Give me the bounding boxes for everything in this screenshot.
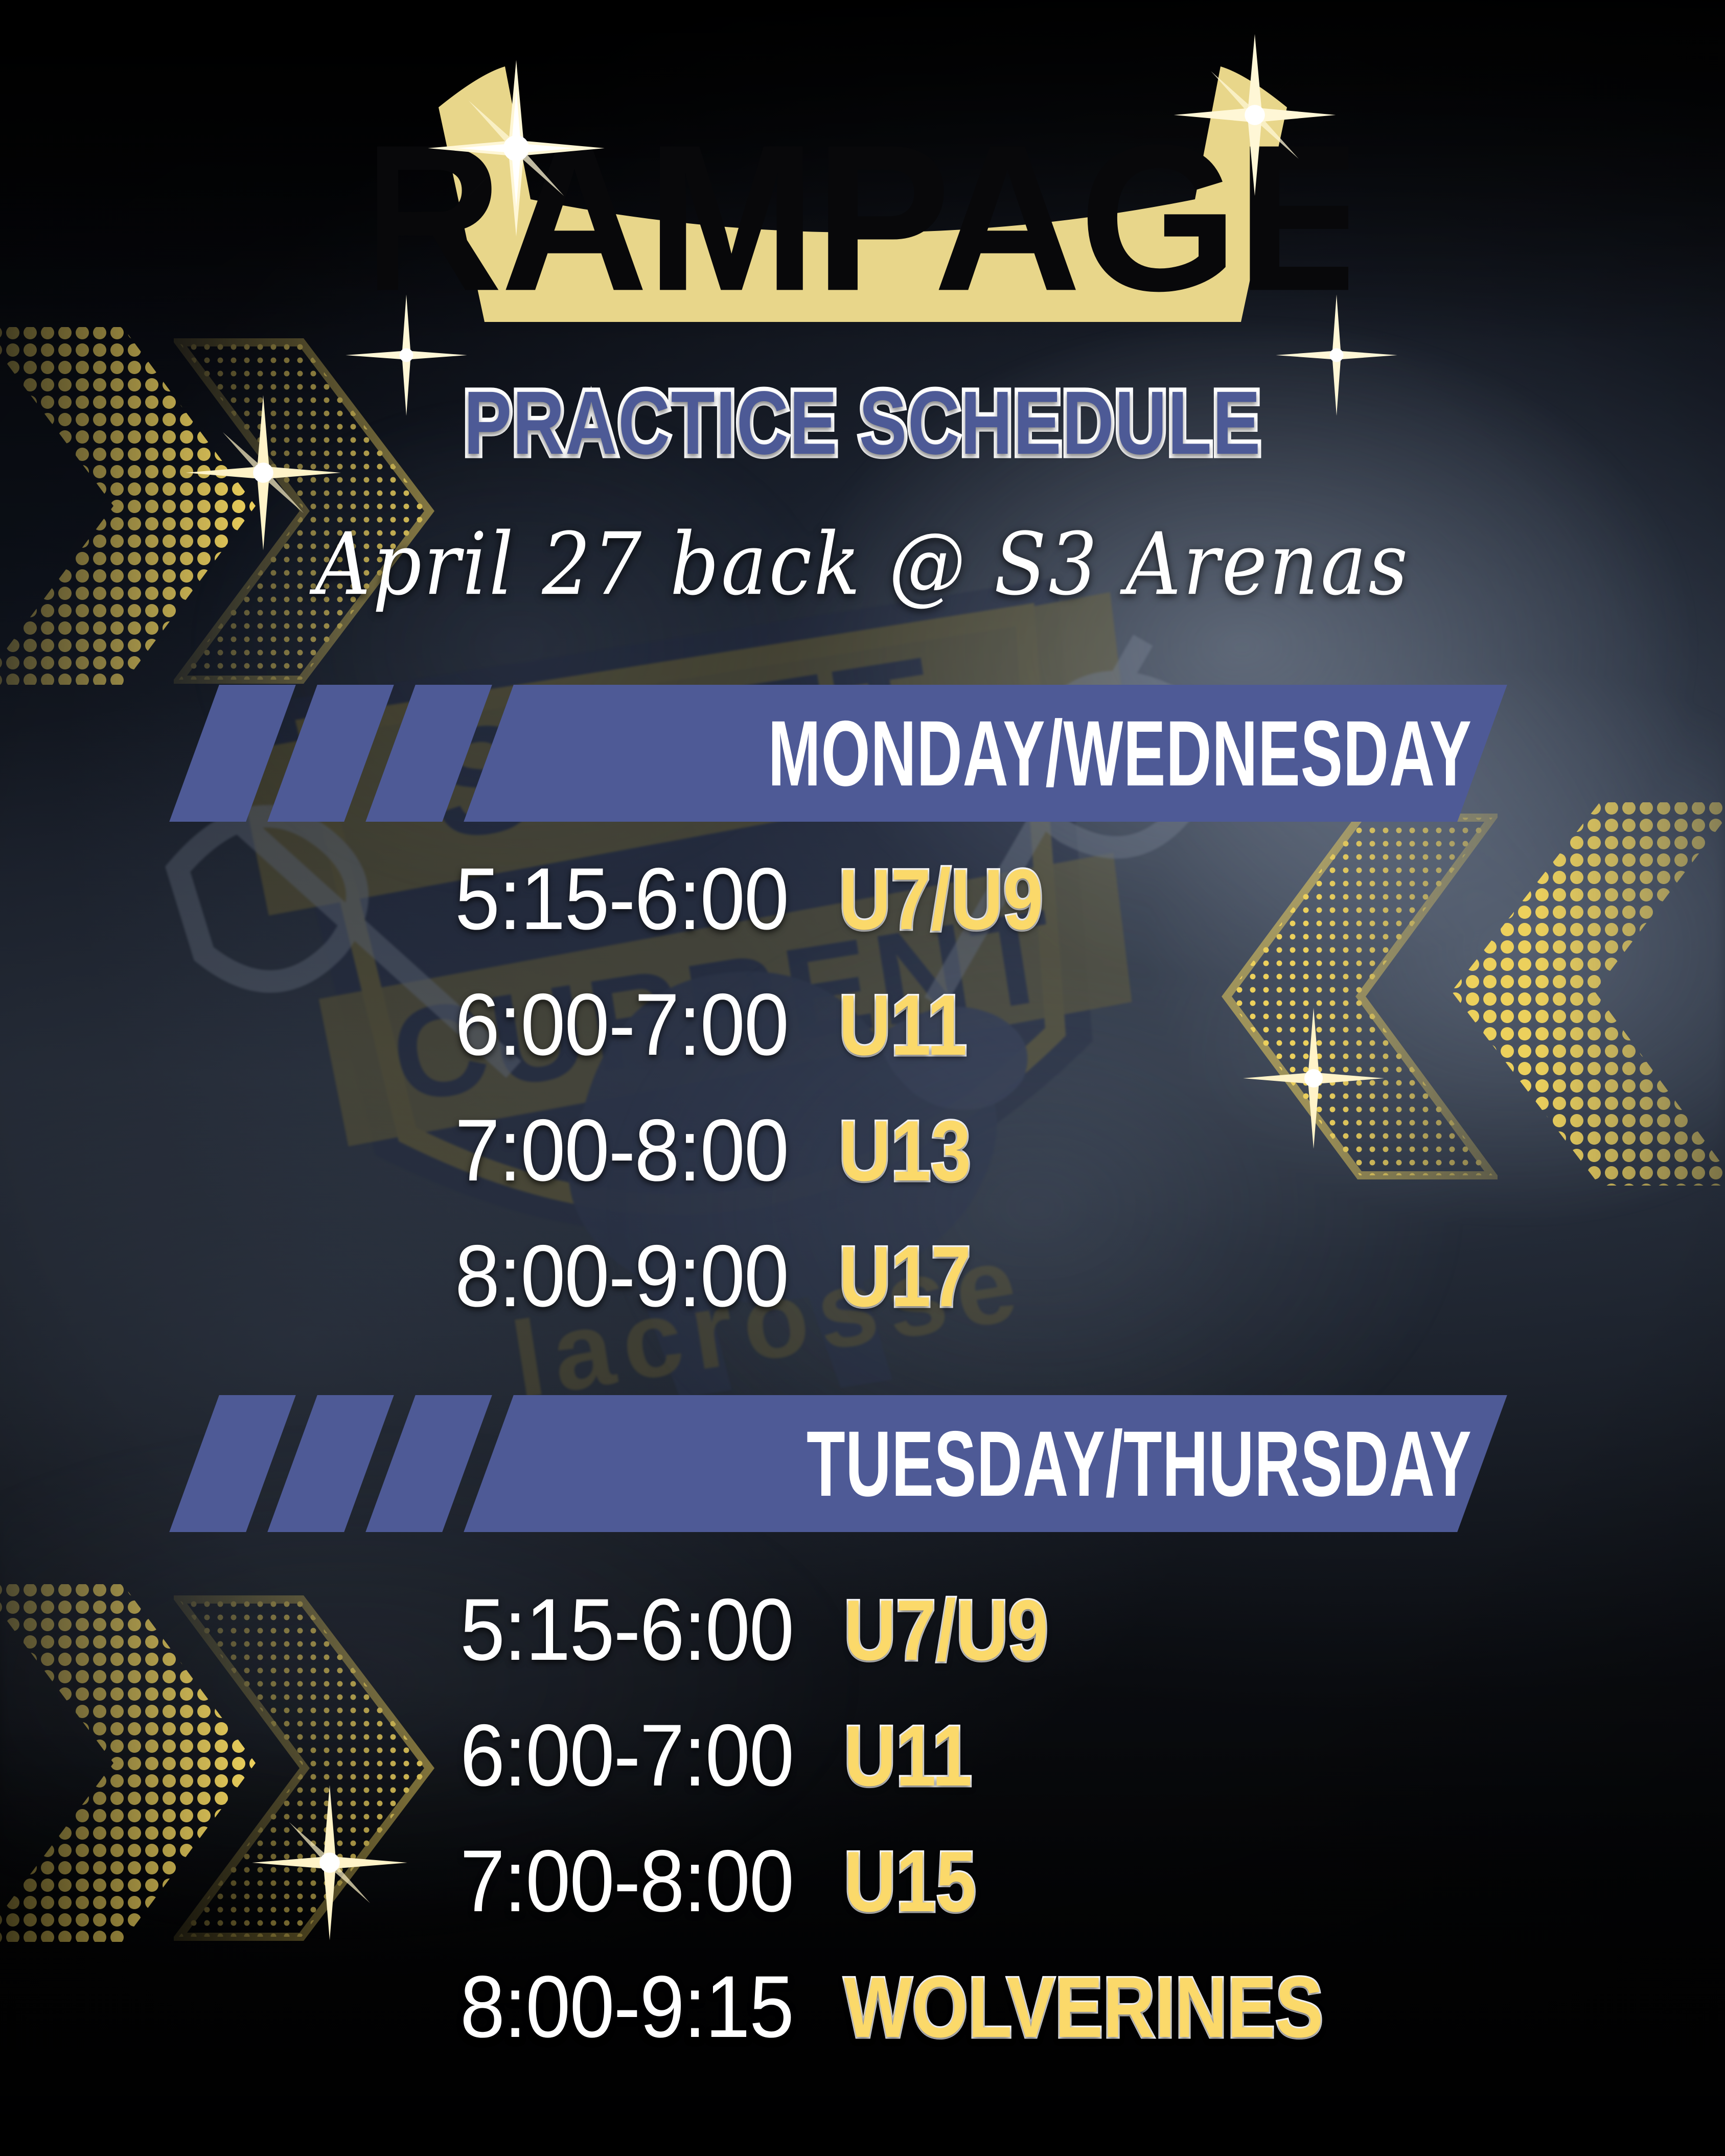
page-subtitle: PRACTICE SCHEDULE (173, 378, 1553, 468)
schedule-list-monday-wednesday: 5:15-6:00 U7/U9 6:00-7:00 U11 7:00-8:00 … (455, 848, 1082, 1351)
banner-tuesday-thursday: TUESDAY/THURSDAY (153, 1395, 1482, 1532)
practice-schedule-poster: SWIFT CURRENT lacrosse (0, 0, 1725, 2156)
banner-body: MONDAY/WEDNESDAY (464, 685, 1507, 822)
row-group: U11 (839, 976, 967, 1075)
rampage-logo: RAMPAGE (377, 46, 1348, 342)
banner-monday-wednesday: MONDAY/WEDNESDAY (153, 685, 1482, 822)
row-time: 8:00-9:15 (460, 1956, 793, 2057)
row-group: U15 (844, 1833, 976, 1931)
schedule-row: 8:00-9:15 WOLVERINES (460, 1956, 1415, 2082)
rampage-logo-text: RAMPAGE (377, 101, 1348, 334)
row-time: 6:00-7:00 (460, 1705, 793, 1806)
row-group: U17 (839, 1227, 971, 1326)
row-group: U13 (839, 1102, 971, 1200)
schedule-row: 7:00-8:00 U13 (455, 1100, 1082, 1225)
banner-label-monday-wednesday: MONDAY/WEDNESDAY (768, 707, 1482, 800)
row-group: WOLVERINES (844, 1958, 1323, 2057)
schedule-row: 5:15-6:00 U7/U9 (455, 848, 1082, 974)
schedule-row: 7:00-8:00 U15 (460, 1830, 1415, 1956)
schedule-row: 5:15-6:00 U7/U9 (460, 1579, 1415, 1705)
schedule-row: 6:00-7:00 U11 (455, 974, 1082, 1100)
row-group: U7/U9 (844, 1581, 1048, 1680)
schedule-row: 8:00-9:00 U17 (455, 1225, 1082, 1351)
row-time: 6:00-7:00 (455, 974, 788, 1075)
banner-label-tuesday-thursday: TUESDAY/THURSDAY (807, 1417, 1482, 1510)
chevron-right-outer (1360, 782, 1725, 1206)
row-group: U11 (844, 1707, 972, 1805)
rampage-logo-art: RAMPAGE (377, 46, 1348, 342)
date-location-line: April 27 back @ S3 Arenas (0, 522, 1725, 608)
row-time: 7:00-8:00 (460, 1830, 793, 1932)
schedule-list-tuesday-thursday: 5:15-6:00 U7/U9 6:00-7:00 U11 7:00-8:00 … (460, 1579, 1415, 2082)
banner-body: TUESDAY/THURSDAY (464, 1395, 1507, 1532)
row-time: 8:00-9:00 (455, 1225, 788, 1327)
row-time: 5:15-6:00 (455, 848, 788, 949)
schedule-row: 6:00-7:00 U11 (460, 1705, 1415, 1830)
row-time: 5:15-6:00 (460, 1579, 793, 1680)
row-time: 7:00-8:00 (455, 1100, 788, 1201)
row-group: U7/U9 (839, 850, 1043, 949)
